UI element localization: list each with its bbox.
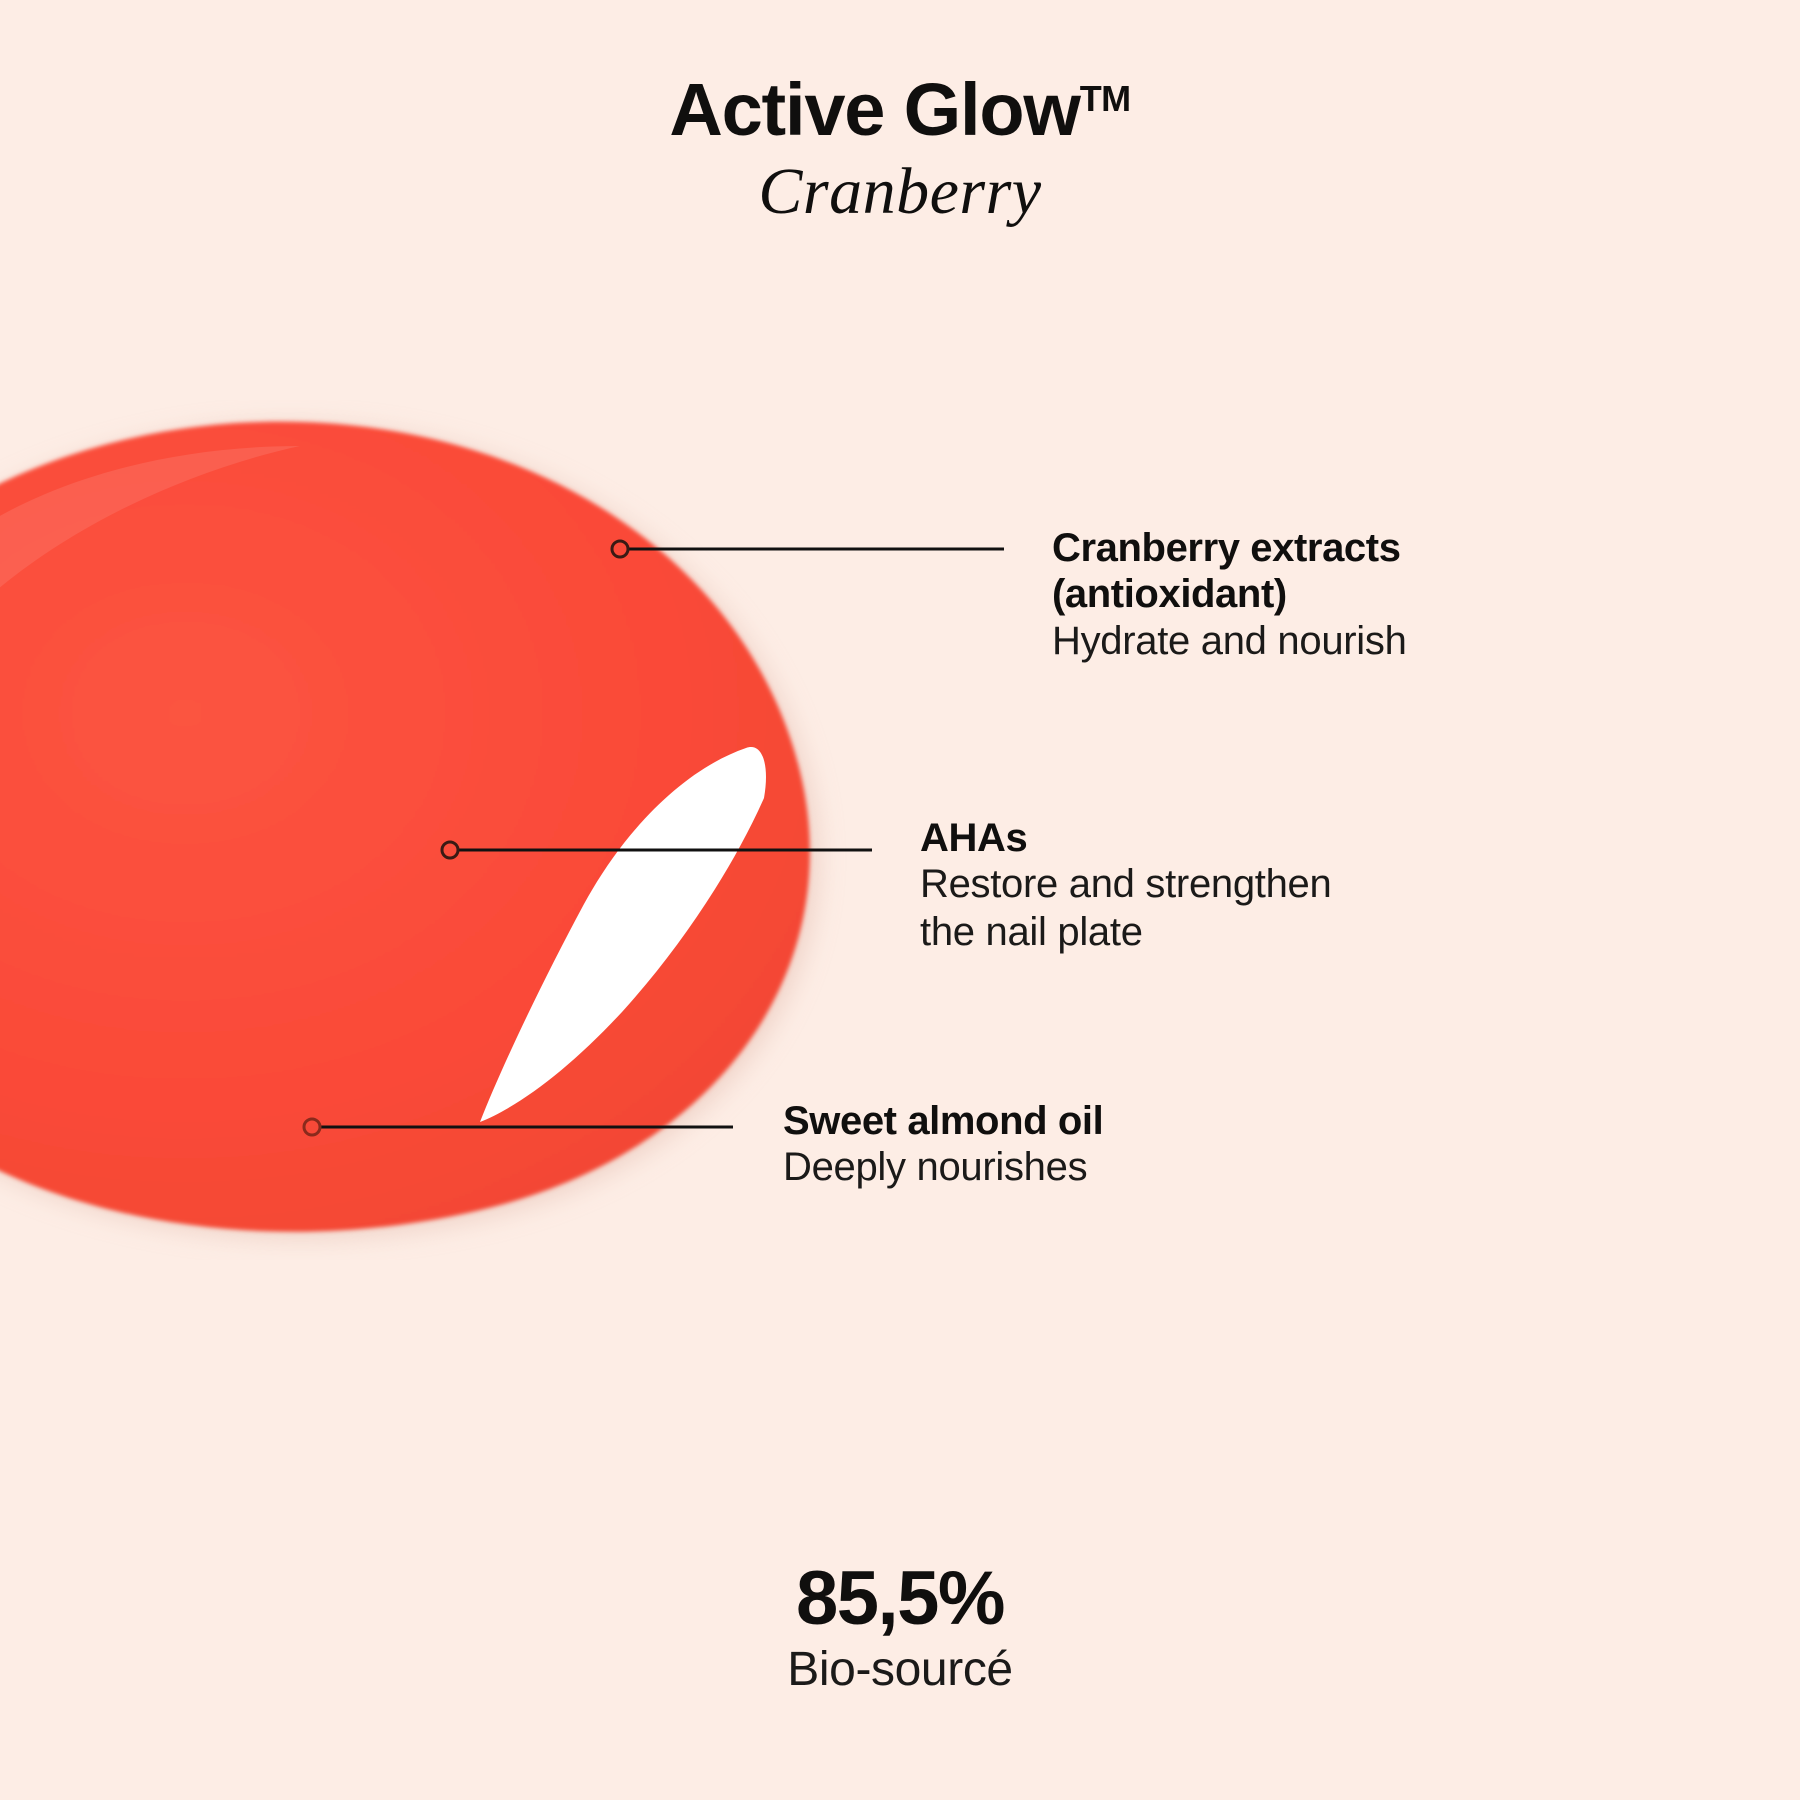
- callout-sweet-almond-oil: Sweet almond oil Deeply nourishes: [783, 1098, 1303, 1192]
- page-title: Active GlowTM: [0, 72, 1800, 149]
- leader-line-cranberry-extracts: [612, 541, 1004, 557]
- callout-title: AHAs: [920, 815, 1440, 861]
- infographic-canvas: Active GlowTM Cranberry: [0, 0, 1800, 1800]
- stat-value: 85,5%: [0, 1560, 1800, 1638]
- callout-description: Hydrate and nourish: [1052, 618, 1572, 665]
- blob-highlight: [480, 747, 766, 1122]
- product-name: Active Glow: [669, 68, 1079, 151]
- variant-name: Cranberry: [0, 155, 1800, 229]
- callout-title: Sweet almond oil: [783, 1098, 1303, 1144]
- callout-description: Restore and strengthen the nail plate: [920, 861, 1440, 955]
- blob-body: [0, 422, 810, 1232]
- callout-cranberry-extracts: Cranberry extracts (antioxidant) Hydrate…: [1052, 525, 1572, 665]
- leader-line-sweet-almond-oil: [304, 1119, 733, 1135]
- stat-label: Bio-sourcé: [0, 1644, 1800, 1697]
- callout-ahas: AHAs Restore and strengthen the nail pla…: [920, 815, 1440, 956]
- callout-leader-lines: [0, 0, 1800, 1800]
- blob-shadow: [0, 426, 818, 1238]
- header: Active GlowTM Cranberry: [0, 72, 1800, 229]
- blob-sheen: [0, 446, 300, 646]
- callout-title: Cranberry extracts (antioxidant): [1052, 525, 1572, 618]
- trademark-icon: TM: [1080, 78, 1131, 119]
- leader-line-ahas: [442, 842, 872, 858]
- footer-stat: 85,5% Bio-sourcé: [0, 1560, 1800, 1696]
- callout-description: Deeply nourishes: [783, 1144, 1303, 1191]
